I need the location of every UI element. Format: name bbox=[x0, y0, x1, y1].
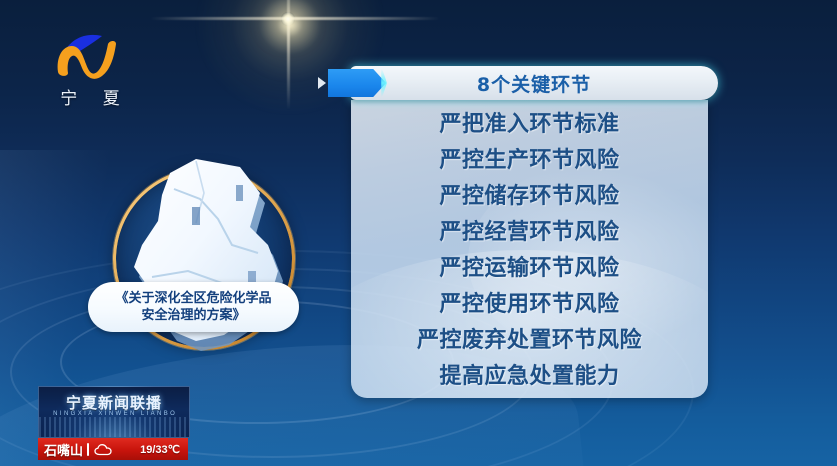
list-item: 提高应急处置能力 bbox=[351, 356, 708, 392]
program-logo-bars bbox=[39, 417, 189, 437]
panel-title: 8个关键环节 bbox=[477, 70, 591, 97]
light-flare-core bbox=[281, 12, 295, 26]
list-item: 严控使用环节风险 bbox=[351, 284, 708, 320]
program-logo: 宁夏新闻联播 NINGXIA XINWEN LIANBO bbox=[38, 386, 190, 438]
document-title-text: 《关于深化全区危险化学品 安全治理的方案》 bbox=[115, 290, 271, 324]
key-points-panel: 严把准入环节标准 严控生产环节风险 严控储存环节风险 严控经营环节风险 严控运输… bbox=[318, 66, 718, 398]
program-name-en: NINGXIA XINWEN LIANBO bbox=[39, 411, 189, 417]
key-points-list-panel: 严把准入环节标准 严控生产环节风险 严控储存环节风险 严控经营环节风险 严控运输… bbox=[351, 100, 708, 398]
list-item: 严控运输环节风险 bbox=[351, 248, 708, 284]
panel-header-bar: 8个关键环节 bbox=[350, 66, 718, 100]
weather-city: 石嘴山 bbox=[44, 440, 83, 459]
program-name-cn: 宁夏新闻联播 bbox=[39, 392, 189, 413]
light-flare-ray-horizontal bbox=[150, 17, 440, 20]
triangle-marker-icon bbox=[318, 77, 326, 89]
list-item: 严控生产环节风险 bbox=[351, 140, 708, 176]
ningxia-n-logo-icon bbox=[40, 26, 140, 86]
list-item: 严控废弃处置环节风险 bbox=[351, 320, 708, 356]
channel-logo-label: 宁 夏 bbox=[40, 84, 140, 109]
weather-bar: 石嘴山 19/33℃ bbox=[38, 438, 188, 460]
document-title-badge: 《关于深化全区危险化学品 安全治理的方案》 bbox=[88, 282, 299, 332]
key-points-list: 严把准入环节标准 严控生产环节风险 严控储存环节风险 严控经营环节风险 严控运输… bbox=[351, 104, 708, 392]
list-item: 严控经营环节风险 bbox=[351, 212, 708, 248]
channel-logo: 宁 夏 bbox=[40, 26, 140, 110]
broadcast-screen: 宁 夏 bbox=[0, 0, 837, 466]
cloud-icon bbox=[94, 443, 114, 456]
news-program-bug: 宁夏新闻联播 NINGXIA XINWEN LIANBO 石嘴山 19/33℃ bbox=[38, 386, 188, 462]
list-item: 严控储存环节风险 bbox=[351, 176, 708, 212]
list-item: 严把准入环节标准 bbox=[351, 104, 708, 140]
weather-temperature: 19/33℃ bbox=[140, 443, 180, 456]
weather-divider bbox=[87, 443, 89, 456]
ningxia-map-icon bbox=[100, 149, 312, 379]
